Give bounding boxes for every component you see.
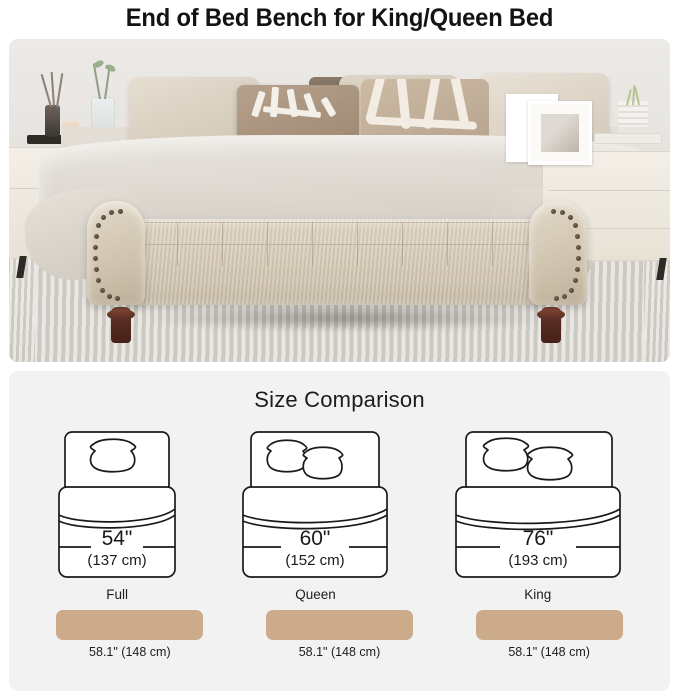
bench-width-bar [56, 610, 203, 640]
storage-bench [87, 199, 587, 319]
bench-width-label: 58.1" (148 cm) [89, 645, 171, 659]
bed-size-label-full: Full [106, 587, 128, 602]
bedroom-scene [9, 39, 670, 362]
bed-diagram-graphic-full: 54" (137 cm) [57, 429, 177, 581]
page-title: End of Bed Bench for King/Queen Bed [17, 0, 662, 39]
nailhead-trim [529, 201, 587, 305]
bed-size-label-queen: Queen [295, 587, 336, 602]
bench-bar-group-queen: 58.1" (148 cm) [244, 610, 434, 659]
bench-seat [129, 219, 543, 305]
stacked-books [594, 133, 662, 144]
tufted-pattern [133, 222, 539, 266]
bench-bar-group-king: 58.1" (148 cm) [454, 610, 644, 659]
bench-width-label: 58.1" (148 cm) [508, 645, 590, 659]
bed-diagram-full: 54" (137 cm) Full [57, 429, 177, 602]
bed-size-label-king: King [524, 587, 551, 602]
product-photo [9, 39, 670, 362]
bench-width-bar [476, 610, 623, 640]
bench-arm-left [87, 201, 145, 305]
reed-diffuser [45, 105, 60, 137]
bench-bar-row: 58.1" (148 cm) 58.1" (148 cm) 58.1" (148… [9, 602, 670, 659]
bench-shadow [147, 305, 547, 331]
bench-width-bar [266, 610, 413, 640]
bench-leg [541, 307, 561, 343]
bed-width-inches: 76" [522, 527, 553, 550]
bed-diagram-row: 54" (137 cm) Full 60" (152 c [9, 413, 670, 602]
bed-diagram-king: 76" (193 cm) King [454, 429, 622, 602]
bench-bar-group-full: 58.1" (148 cm) [35, 610, 225, 659]
bed-diagram-graphic-queen: 60" (152 cm) [241, 429, 389, 581]
bed-width-inches: 60" [300, 527, 331, 550]
bed-width-cm: (137 cm) [88, 552, 147, 569]
bench-width-label: 58.1" (148 cm) [299, 645, 381, 659]
size-comparison-heading: Size Comparison [9, 371, 670, 413]
bench-leg [111, 307, 131, 343]
picture-frame [528, 101, 592, 165]
size-comparison-panel: Size Comparison 54" (137 cm) Full [9, 371, 670, 691]
bed-width-cm: (152 cm) [286, 552, 345, 569]
bed-diagram-queen: 60" (152 cm) Queen [241, 429, 389, 602]
bed-diagram-graphic-king: 76" (193 cm) [454, 429, 622, 581]
bed-width-cm: (193 cm) [508, 552, 567, 569]
bench-arm-right [529, 201, 587, 305]
nailhead-trim [87, 201, 145, 305]
bed-width-inches: 54" [102, 527, 133, 550]
